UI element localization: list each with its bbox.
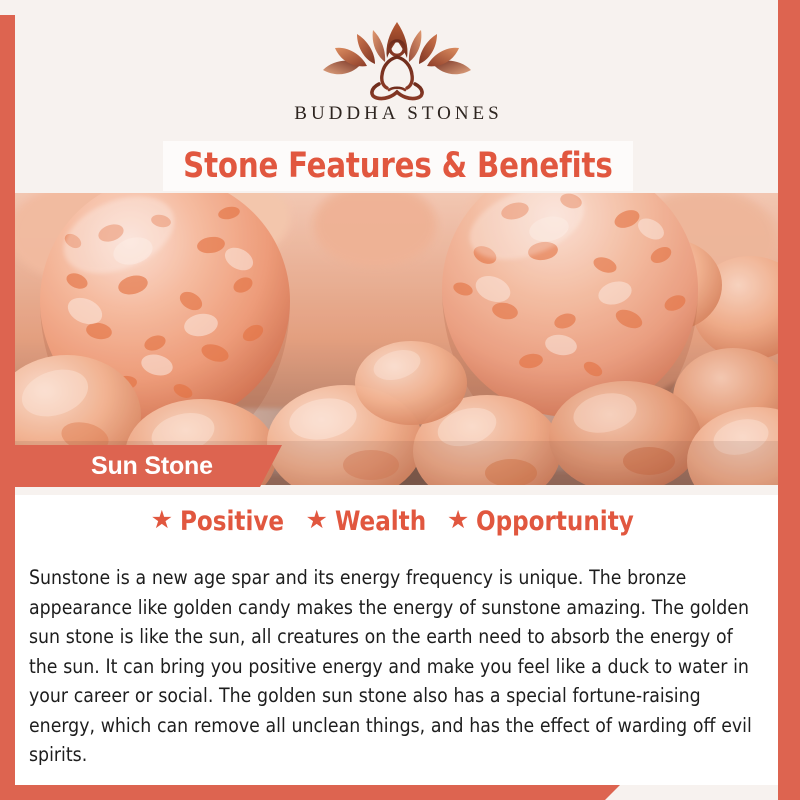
keyword-label: Opportunity (476, 508, 634, 535)
keyword-item-wealth: ★ Wealth (306, 508, 431, 535)
infographic-canvas: BUDDHA STONES Stone Features & Benefits (0, 0, 800, 800)
brand-name: BUDDHA STONES (290, 104, 502, 123)
star-icon: ★ (447, 508, 469, 533)
keyword-label: Positive (180, 508, 284, 535)
brand-logo: BUDDHA STONES (15, 18, 778, 123)
page-title: Stone Features & Benefits (183, 146, 612, 186)
keyword-item-opportunity: ★ Opportunity (447, 508, 643, 535)
sunstone-photo-art (15, 193, 778, 485)
star-icon: ★ (151, 508, 173, 533)
keyword-label: Wealth (335, 508, 426, 535)
keyword-item-positive: ★ Positive (151, 508, 290, 535)
stone-description: Sunstone is a new age spar and its energ… (29, 563, 753, 770)
stone-name-label: Sun Stone (91, 454, 213, 479)
lotus-meditation-figure-icon (313, 18, 481, 102)
content-panel: ★ Positive ★ Wealth ★ Opportunity Sunsto… (15, 487, 778, 785)
content-top-divider (15, 487, 778, 495)
frame-left-band (0, 15, 15, 785)
stone-name-ribbon: Sun Stone (15, 445, 282, 487)
keyword-list: ★ Positive ★ Wealth ★ Opportunity (15, 508, 778, 535)
title-panel: Stone Features & Benefits (163, 141, 633, 191)
frame-bottom-band (0, 785, 620, 800)
sunstone-photo (15, 193, 778, 485)
star-icon: ★ (306, 508, 328, 533)
frame-right-band (778, 0, 800, 800)
